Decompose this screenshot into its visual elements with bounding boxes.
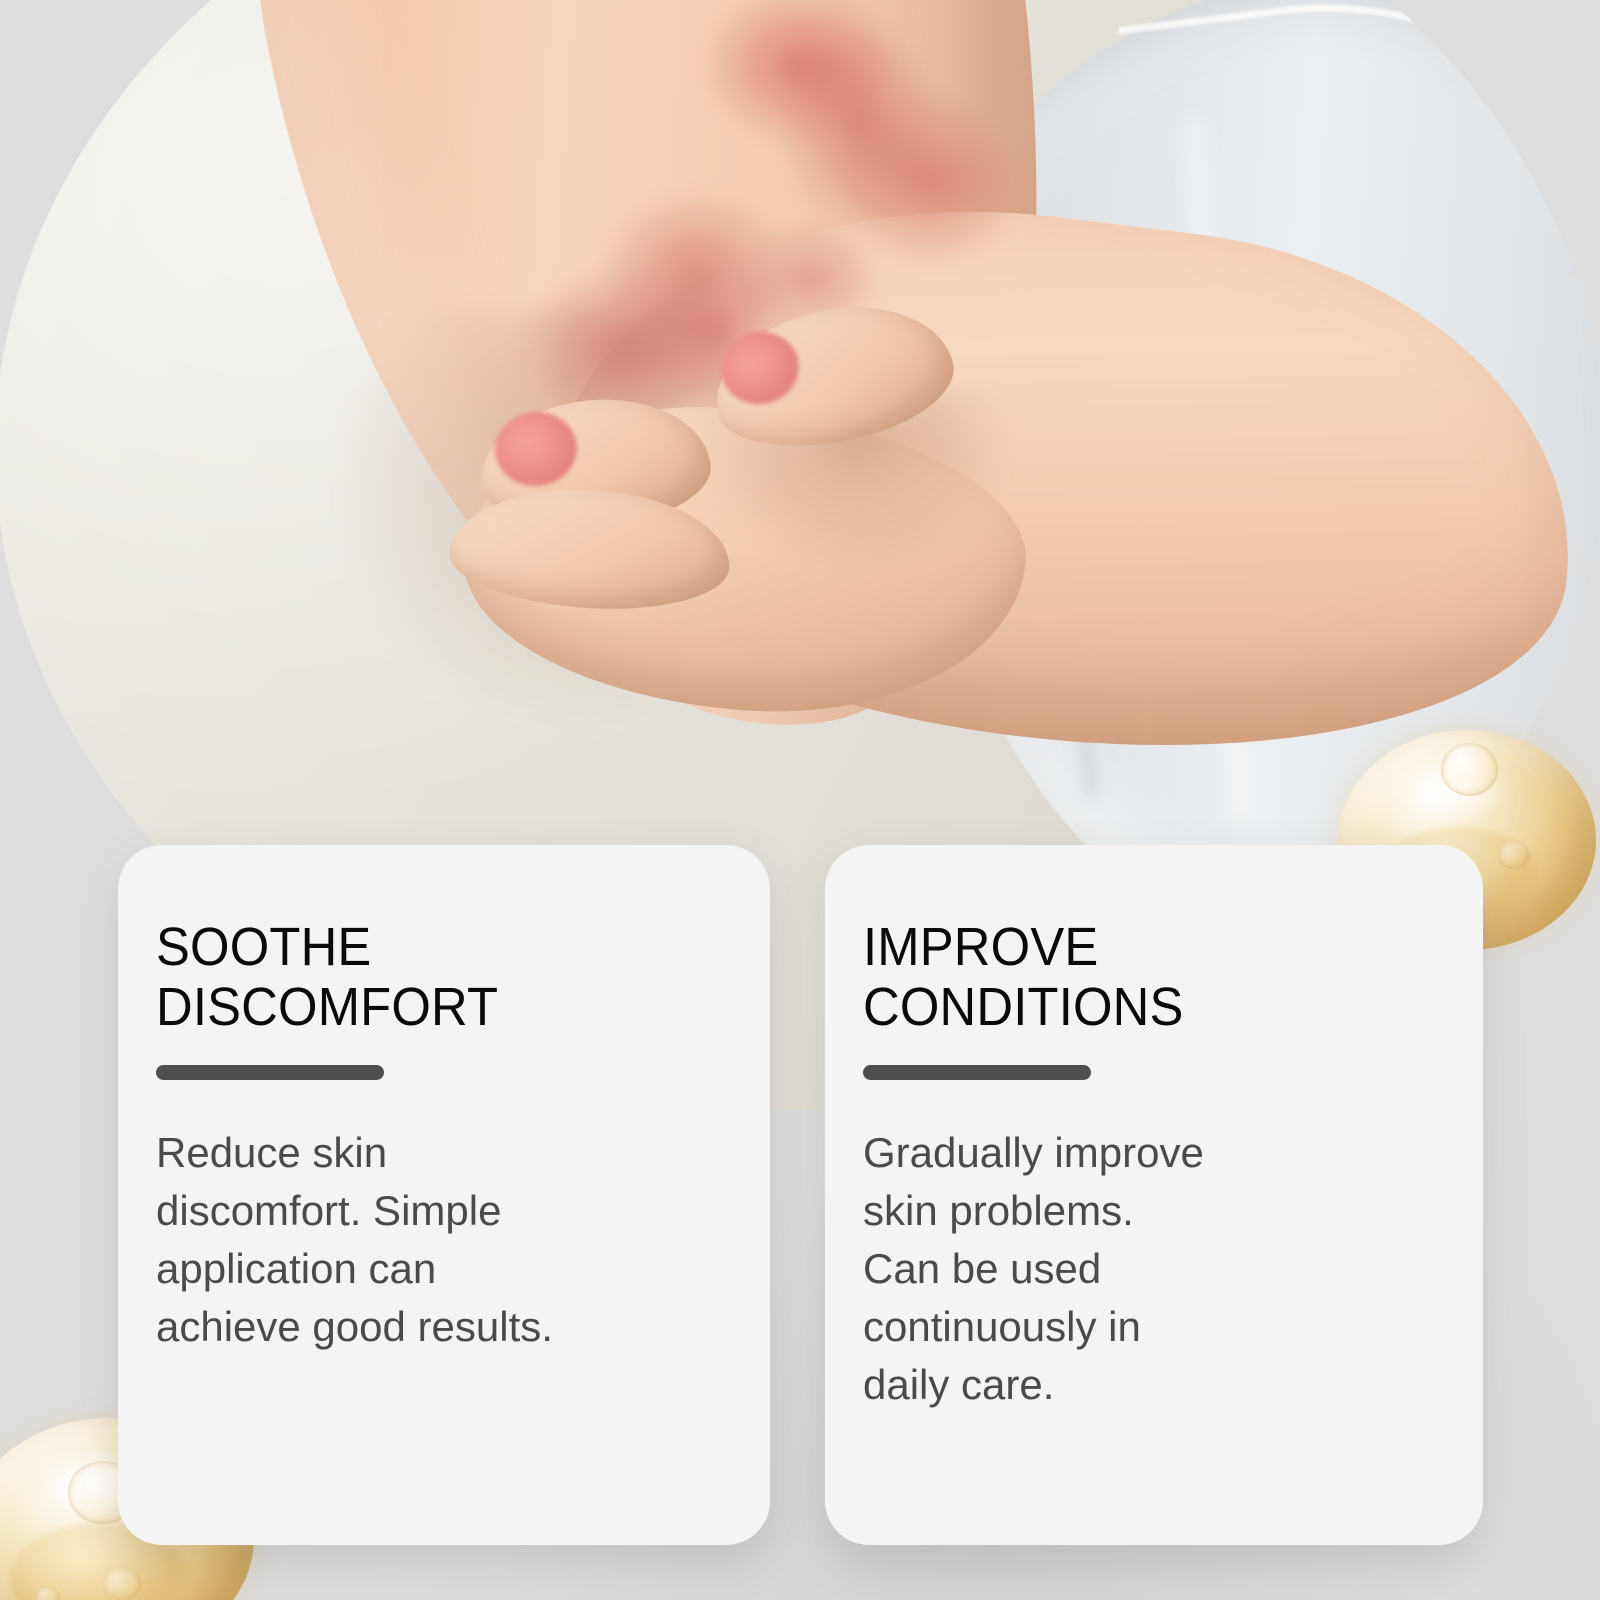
card-divider-rule <box>156 1065 384 1080</box>
droplet-bubble <box>1498 840 1529 869</box>
feature-card-improve-conditions[interactable]: IMPROVE CONDITIONS Gradually improve ski… <box>825 845 1483 1545</box>
droplet-bubble <box>1441 743 1498 796</box>
card-body-text: Gradually improve skin problems. Can be … <box>863 1124 1363 1414</box>
droplet-bubble <box>103 1567 141 1600</box>
feature-card-soothe-discomfort[interactable]: SOOTHE DISCOMFORT Reduce skin discomfort… <box>118 845 770 1545</box>
card-title: IMPROVE CONDITIONS <box>863 917 1389 1037</box>
card-divider-rule <box>863 1065 1091 1080</box>
droplet-bubble <box>34 1586 60 1600</box>
card-body-text: Reduce skin discomfort. Simple applicati… <box>156 1124 626 1356</box>
card-title: SOOTHE DISCOMFORT <box>156 917 677 1037</box>
promo-page: SOOTHE DISCOMFORT Reduce skin discomfort… <box>0 0 1600 1600</box>
